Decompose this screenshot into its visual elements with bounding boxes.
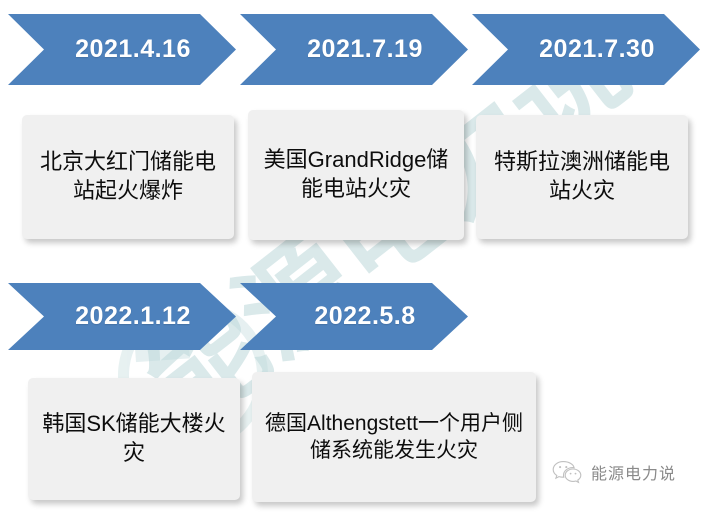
timeline-date-banner-2021-07-19[interactable]: 2021.7.19	[240, 14, 468, 85]
timeline-event-description: 德国Althengstett一个用户侧储系统能发生火灾	[262, 410, 526, 465]
wechat-icon	[552, 460, 582, 484]
timeline-event-description: 韩国SK储能大楼火灾	[38, 410, 230, 467]
timeline-event-card[interactable]: 德国Althengstett一个用户侧储系统能发生火灾	[252, 372, 536, 502]
timeline-date-banner-2021-07-30[interactable]: 2021.7.30	[472, 14, 700, 85]
timeline-event-card[interactable]: 特斯拉澳洲储能电站火灾	[476, 115, 688, 239]
timeline-date-banner-2022-01-12[interactable]: 2022.1.12	[8, 283, 236, 350]
wechat-account-name: 能源电力说	[591, 460, 676, 484]
timeline-date-label: 2022.5.8	[292, 302, 415, 331]
timeline-event-card[interactable]: 北京大红门储能电站起火爆炸	[22, 115, 234, 239]
timeline-event-card[interactable]: 韩国SK储能大楼火灾	[28, 378, 240, 500]
timeline-date-banner-2022-05-08[interactable]: 2022.5.8	[240, 283, 468, 350]
timeline-date-label: 2021.7.19	[285, 35, 423, 64]
slide-canvas: + 能源电力说 2021.4.16 2021.7.19 2021.7.30 北京…	[0, 0, 713, 512]
timeline-date-banner-2021-04-16[interactable]: 2021.4.16	[8, 14, 236, 85]
timeline-date-label: 2022.1.12	[53, 302, 191, 331]
timeline-event-card[interactable]: 美国GrandRidge储能电站火灾	[248, 110, 464, 240]
timeline-event-description: 美国GrandRidge储能电站火灾	[258, 146, 454, 203]
wechat-account-brand: 能源电力说	[552, 460, 676, 484]
timeline-date-label: 2021.7.30	[517, 35, 655, 64]
timeline-content: 2021.4.16 2021.7.19 2021.7.30 北京大红门储能电站起…	[0, 0, 713, 512]
timeline-date-label: 2021.4.16	[53, 35, 191, 64]
timeline-event-description: 特斯拉澳洲储能电站火灾	[486, 148, 678, 205]
timeline-event-description: 北京大红门储能电站起火爆炸	[32, 148, 224, 205]
